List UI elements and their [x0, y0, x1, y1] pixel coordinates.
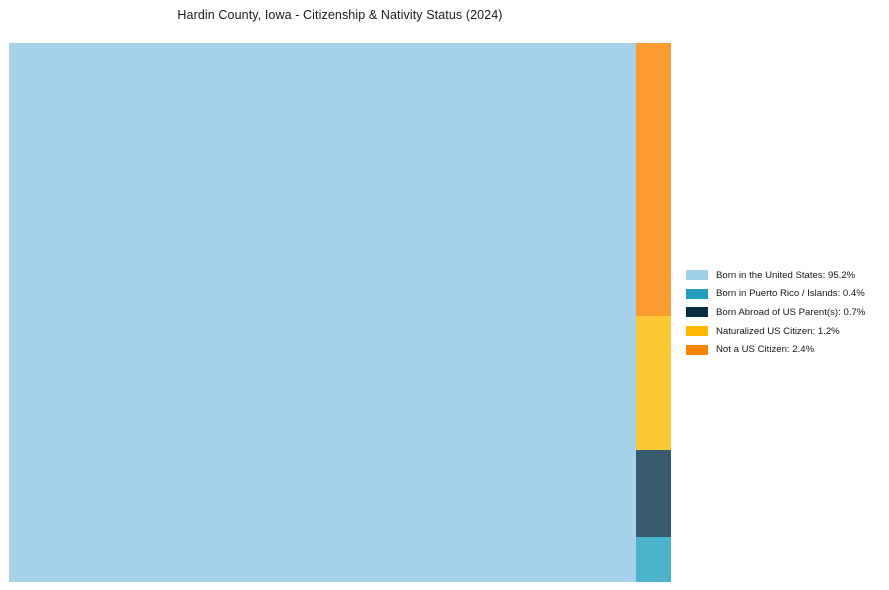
page-title: Hardin County, Iowa - Citizenship & Nati…: [0, 8, 680, 22]
chart-legend: Born in the United States: 95.2% Born in…: [686, 266, 882, 359]
legend-item-label: Born in Puerto Rico / Islands: 0.4%: [716, 288, 865, 299]
legend-swatch-icon: [686, 307, 708, 317]
legend-item-label: Naturalized US Citizen: 1.2%: [716, 326, 840, 337]
treemap-tile-born-abroad-of-us-parents[interactable]: [636, 450, 671, 537]
legend-swatch-icon: [686, 326, 708, 336]
plot-area: [9, 43, 671, 582]
legend-item-born-abroad-of-us-parents[interactable]: Born Abroad of US Parent(s): 0.7%: [686, 303, 882, 322]
legend-item-born-in-the-united-states[interactable]: Born in the United States: 95.2%: [686, 266, 882, 285]
legend-item-label: Not a US Citizen: 2.4%: [716, 344, 814, 355]
treemap-tile-not-a-us-citizen[interactable]: [636, 43, 671, 316]
legend-swatch-icon: [686, 345, 708, 355]
legend-item-naturalized-us-citizen[interactable]: Naturalized US Citizen: 1.2%: [686, 322, 882, 341]
legend-swatch-icon: [686, 270, 708, 280]
legend-item-born-in-puerto-rico-islands[interactable]: Born in Puerto Rico / Islands: 0.4%: [686, 285, 882, 304]
legend-swatch-icon: [686, 289, 708, 299]
legend-item-not-a-us-citizen[interactable]: Not a US Citizen: 2.4%: [686, 340, 882, 359]
treemap-figure: Hardin County, Iowa - Citizenship & Nati…: [0, 0, 889, 590]
legend-item-label: Born Abroad of US Parent(s): 0.7%: [716, 307, 865, 318]
legend-item-label: Born in the United States: 95.2%: [716, 270, 855, 281]
treemap-tile-born-in-puerto-rico-islands[interactable]: [636, 537, 671, 582]
treemap-tile-born-in-the-united-states[interactable]: [9, 43, 636, 582]
treemap-tile-naturalized-us-citizen[interactable]: [636, 316, 671, 450]
